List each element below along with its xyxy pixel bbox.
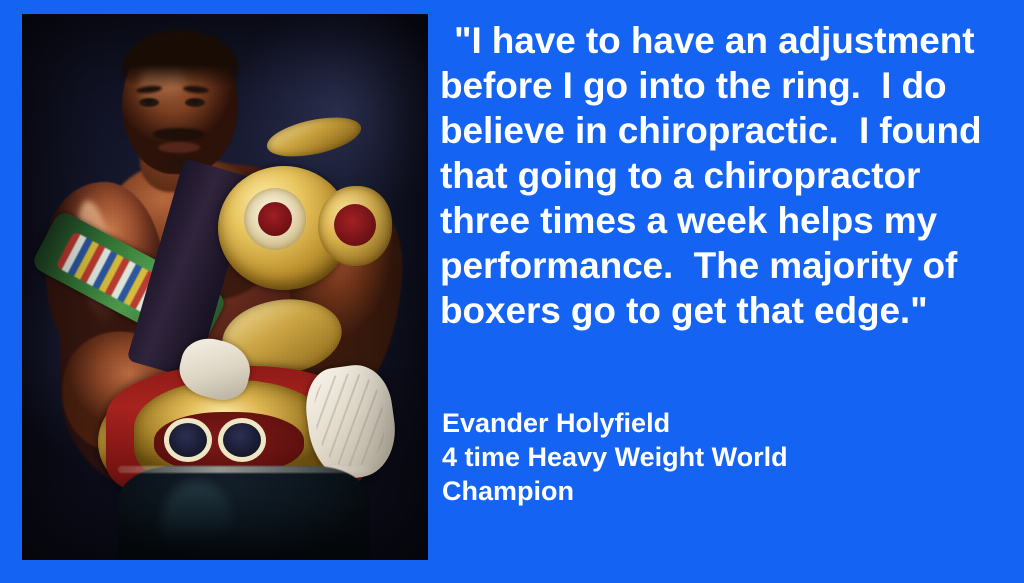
quote-line: boxers go to get that edge." [440, 288, 1000, 333]
boxer-photograph [22, 14, 428, 560]
text-panel: "I have to have an adjustment before I g… [440, 0, 1024, 583]
quote-line: three times a week helps my [440, 198, 1000, 243]
quote-poster: "I have to have an adjustment before I g… [0, 0, 1024, 583]
quote-line: "I have to have an adjustment [440, 18, 1000, 63]
quote-line: believe in chiropractic. I found [440, 108, 1000, 153]
quote-text: "I have to have an adjustment before I g… [440, 18, 1000, 333]
attribution-name: Evander Holyfield [442, 406, 982, 440]
quote-line: performance. The majority of [440, 243, 1000, 288]
photo-vignette-overlay [22, 14, 428, 560]
quote-line: that going to a chiropractor [440, 153, 1000, 198]
attribution: Evander Holyfield 4 time Heavy Weight Wo… [442, 406, 982, 508]
quote-line: before I go into the ring. I do [440, 63, 1000, 108]
attribution-title-line: 4 time Heavy Weight World [442, 440, 982, 474]
attribution-title-line: Champion [442, 474, 982, 508]
